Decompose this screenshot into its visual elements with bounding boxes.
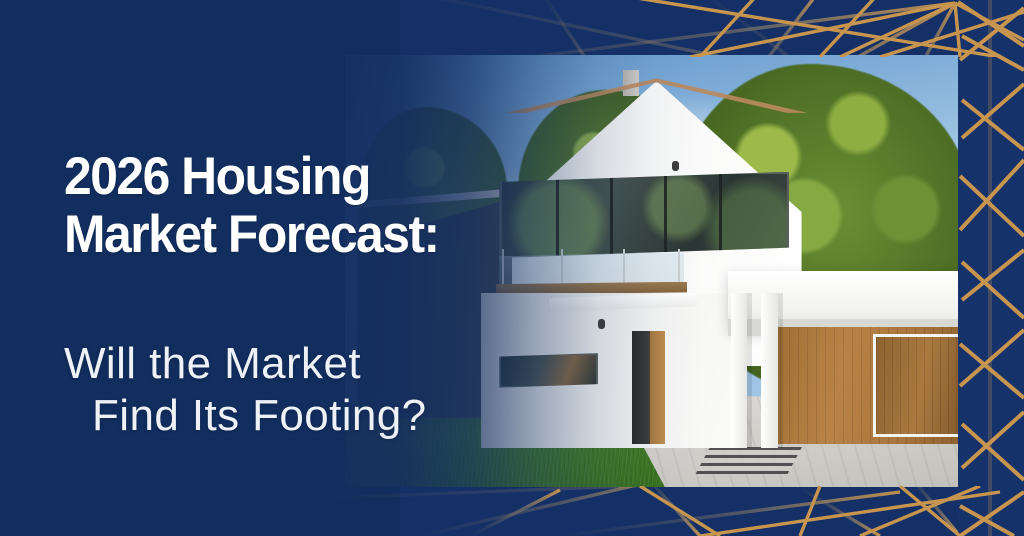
subtitle-line-1: Will the Market: [64, 339, 361, 388]
copy-block: 2026 Housing Market Forecast: Will the M…: [64, 148, 463, 494]
page-title: 2026 Housing Market Forecast:: [64, 148, 439, 264]
subtitle-line-2: Find Its Footing?: [64, 390, 463, 442]
subtitle: Will the Market Find Its Footing?: [64, 286, 463, 494]
housing-market-forecast-banner: 2026 Housing Market Forecast: Will the M…: [0, 0, 1024, 536]
